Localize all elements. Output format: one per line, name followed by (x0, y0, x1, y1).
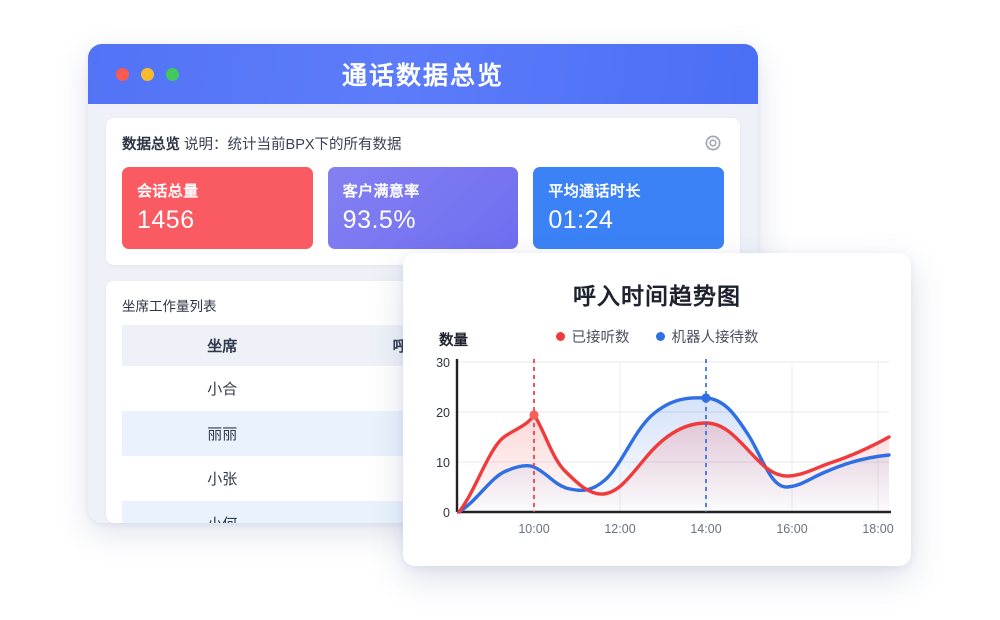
y-tick-30: 30 (436, 356, 450, 370)
stat-card-value: 93.5% (343, 206, 504, 235)
overview-heading: 数据总览 说明：统计当前BPX下的所有数据 (122, 133, 402, 154)
cell-agent-name: 丽丽 (122, 411, 322, 456)
chart-title: 呼入时间趋势图 (419, 277, 895, 311)
chart-legend: 数量 已接听数 机器人接待数 (419, 325, 895, 347)
window-title: 通话数据总览 (88, 56, 758, 92)
maximize-window-button[interactable] (166, 68, 179, 81)
overview-header: 数据总览 说明：统计当前BPX下的所有数据 (122, 132, 724, 154)
cell-agent-name: 小何 (122, 501, 322, 523)
x-tick-1000: 10:00 (518, 522, 549, 536)
x-tick-labels: 10:00 12:00 14:00 16:00 18:00 (518, 522, 893, 536)
gear-icon[interactable] (702, 132, 724, 154)
legend-item-answered[interactable]: 已接听数 (556, 326, 630, 347)
stat-card-list: 会话总量 1456 客户满意率 93.5% 平均通话时长 01:24 (122, 167, 724, 249)
screenshot-stage: 通话数据总览 数据总览 说明：统计当前BPX下的所有数据 (0, 0, 1000, 620)
legend-swatch-icon (656, 332, 665, 341)
stat-card-label: 平均通话时长 (548, 180, 709, 201)
stat-card-total-sessions[interactable]: 会话总量 1456 (122, 167, 313, 249)
cell-agent-name: 小张 (122, 456, 322, 501)
stat-card-avg-duration[interactable]: 平均通话时长 01:24 (533, 167, 724, 249)
legend-item-bot[interactable]: 机器人接待数 (656, 326, 759, 347)
stat-card-label: 会话总量 (137, 180, 298, 201)
y-tick-20: 20 (436, 406, 450, 420)
close-window-button[interactable] (116, 68, 129, 81)
stat-card-label: 客户满意率 (343, 180, 504, 201)
window-controls[interactable] (116, 44, 179, 104)
stat-card-satisfaction[interactable]: 客户满意率 93.5% (328, 167, 519, 249)
stat-card-value: 1456 (137, 206, 298, 235)
x-tick-1400: 14:00 (690, 522, 721, 536)
overview-panel: 数据总览 说明：统计当前BPX下的所有数据 会话总量 145 (106, 118, 740, 265)
x-tick-1800: 18:00 (862, 522, 893, 536)
legend-label: 已接听数 (572, 326, 630, 347)
cell-agent-name: 小合 (122, 366, 322, 411)
x-tick-1600: 16:00 (776, 522, 807, 536)
chart-plot: 30 20 10 0 10:00 12:00 14:00 16:00 18:00 (419, 351, 895, 556)
marker-bot-peak[interactable] (701, 393, 710, 402)
y-tick-0: 0 (443, 506, 450, 520)
legend-swatch-icon (556, 332, 565, 341)
column-header-agent[interactable]: 坐席 (122, 325, 322, 366)
trend-chart-card: 呼入时间趋势图 数量 已接听数 机器人接待数 (403, 253, 911, 566)
y-axis-title: 数量 (439, 329, 468, 350)
y-tick-labels: 30 20 10 0 (436, 356, 450, 520)
overview-heading-label: 数据总览 (122, 137, 180, 153)
x-tick-1200: 12:00 (604, 522, 635, 536)
marker-answered-peak[interactable] (529, 410, 538, 419)
legend-label: 机器人接待数 (672, 326, 759, 347)
stat-card-value: 01:24 (548, 206, 709, 235)
y-tick-10: 10 (436, 456, 450, 470)
minimize-window-button[interactable] (141, 68, 154, 81)
overview-description: 说明：统计当前BPX下的所有数据 (184, 137, 402, 153)
window-title-bar: 通话数据总览 (88, 44, 758, 104)
